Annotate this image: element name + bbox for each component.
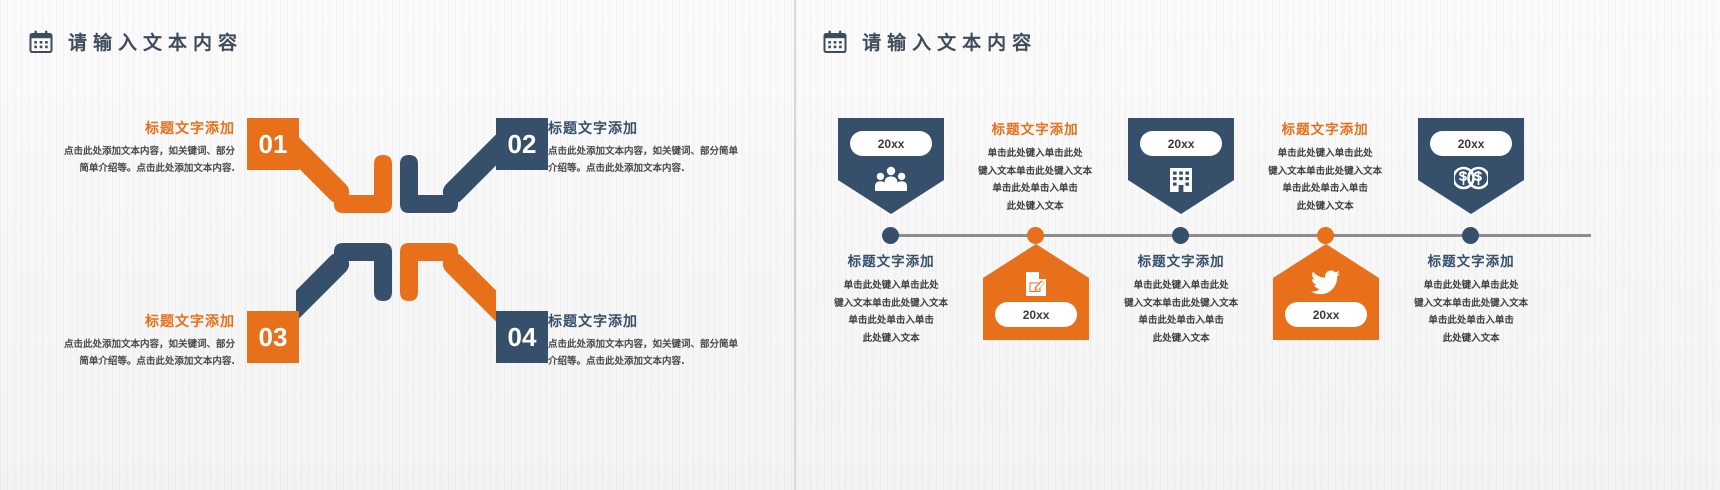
timeline-badge-2[interactable]: 20xx	[983, 244, 1089, 340]
timeline-line-3-4: 此处键入文本	[1093, 330, 1269, 348]
text-block-03: 标题文字添加 点击此处添加文本内容，如关键词、部分 简单介绍等。点击此处添加文本…	[20, 311, 235, 370]
building-icon	[1128, 166, 1234, 194]
calendar-icon	[822, 29, 848, 55]
shield-shape-4: 20xx	[1273, 244, 1379, 340]
page-title: 请输入文本内容	[862, 28, 1037, 55]
timeline-title-5: 标题文字添加	[1383, 250, 1559, 270]
timeline-title-3: 标题文字添加	[1093, 250, 1269, 270]
timeline-dot-4	[1317, 227, 1334, 244]
timeline-line-1-1: 单击此处键入单击此处	[803, 277, 979, 295]
page-title: 请输入文本内容	[68, 28, 243, 55]
timeline-line-1-3: 单击此处单击入单击	[803, 312, 979, 330]
timeline-title-4: 标题文字添加	[1237, 118, 1413, 138]
timeline-connector-line	[891, 234, 1591, 237]
shield-shape-2: 20xx	[983, 244, 1089, 340]
timeline-line-5-4: 此处键入文本	[1383, 330, 1559, 348]
shield-shape-5: 20xx	[1418, 118, 1524, 214]
block-title-04: 标题文字添加	[548, 311, 776, 331]
text-block-04: 标题文字添加 点击此处添加文本内容，如关键词、部分简单 介绍等。点击此处添加文本…	[548, 311, 776, 370]
timeline-line-4-4: 此处键入文本	[1237, 198, 1413, 216]
timeline-line-1-4: 此处键入文本	[803, 330, 979, 348]
timeline-line-2-2: 键入文本单击此处键入文本	[947, 163, 1123, 181]
timeline-line-3-2: 键入文本单击此处键入文本	[1093, 295, 1269, 313]
timeline-line-1-2: 键入文本单击此处键入文本	[803, 295, 979, 313]
timeline-title-1: 标题文字添加	[803, 250, 979, 270]
number-badge-02: 02	[496, 118, 548, 170]
calendar-icon	[28, 29, 54, 55]
timeline-line-5-1: 单击此处键入单击此处	[1383, 277, 1559, 295]
timeline-line-3-3: 单击此处单击入单击	[1093, 312, 1269, 330]
timeline-line-4-1: 单击此处键入单击此处	[1237, 145, 1413, 163]
timeline-text-1: 标题文字添加 单击此处键入单击此处 键入文本单击此处键入文本 单击此处单击入单击…	[803, 250, 979, 347]
timeline-dot-5	[1462, 227, 1479, 244]
timeline-line-4-2: 键入文本单击此处键入文本	[1237, 163, 1413, 181]
timeline-line-2-3: 单击此处单击入单击	[947, 180, 1123, 198]
block-body-01-line1: 点击此处添加文本内容，如关键词、部分	[20, 144, 235, 161]
timeline-dot-2	[1027, 227, 1044, 244]
number-badge-01: 01	[247, 118, 299, 170]
block-body-04-line2: 介绍等。点击此处添加文本内容.	[548, 354, 776, 371]
year-pill-4: 20xx	[1285, 302, 1367, 327]
twitter-bird-icon	[1273, 270, 1379, 296]
money-dollar-icon	[1418, 166, 1524, 190]
block-body-03-line1: 点击此处添加文本内容，如关键词、部分	[20, 337, 235, 354]
right-slide-header: 请输入文本内容	[822, 28, 1037, 55]
block-title-02: 标题文字添加	[548, 118, 776, 138]
timeline-line-2-1: 单击此处键入单击此处	[947, 145, 1123, 163]
shield-shape-3: 20xx	[1128, 118, 1234, 214]
year-pill-2: 20xx	[995, 302, 1077, 327]
number-badge-03: 03	[247, 311, 299, 363]
timeline-badge-4[interactable]: 20xx	[1273, 244, 1379, 340]
number-badge-04: 04	[496, 311, 548, 363]
slide-right: 请输入文本内容 20xx	[796, 0, 1720, 490]
slide-left: 请输入文本内容	[0, 0, 794, 490]
timeline-line-5-2: 键入文本单击此处键入文本	[1383, 295, 1559, 313]
timeline-line-2-4: 此处键入文本	[947, 198, 1123, 216]
block-title-03: 标题文字添加	[20, 311, 235, 331]
timeline-line-5-3: 单击此处单击入单击	[1383, 312, 1559, 330]
timeline-dot-1	[882, 227, 899, 244]
timeline-text-3: 标题文字添加 单击此处键入单击此处 键入文本单击此处键入文本 单击此处单击入单击…	[1093, 250, 1269, 347]
shield-shape-1: 20xx	[838, 118, 944, 214]
block-body-02-line1: 点击此处添加文本内容，如关键词、部分简单	[548, 144, 776, 161]
timeline-title-2: 标题文字添加	[947, 118, 1123, 138]
text-block-01: 标题文字添加 点击此处添加文本内容，如关键词、部分 简单介绍等。点击此处添加文本…	[20, 118, 235, 177]
timeline-text-4: 标题文字添加 单击此处键入单击此处 键入文本单击此处键入文本 单击此处单击入单击…	[1237, 118, 1413, 215]
document-edit-icon	[983, 270, 1089, 298]
timeline-badge-3[interactable]: 20xx	[1128, 118, 1234, 214]
block-body-01-line2: 简单介绍等。点击此处添加文本内容.	[20, 161, 235, 178]
two-slide-canvas: 请输入文本内容	[0, 0, 1720, 490]
people-group-icon	[838, 166, 944, 192]
four-arrows-converging-icon	[296, 112, 496, 344]
year-pill-3: 20xx	[1140, 131, 1222, 156]
timeline-line-4-3: 单击此处单击入单击	[1237, 180, 1413, 198]
year-pill-5: 20xx	[1430, 131, 1512, 156]
block-body-04-line1: 点击此处添加文本内容，如关键词、部分简单	[548, 337, 776, 354]
timeline-text-2: 标题文字添加 单击此处键入单击此处 键入文本单击此处键入文本 单击此处单击入单击…	[947, 118, 1123, 215]
left-slide-header: 请输入文本内容	[28, 28, 243, 55]
timeline-text-5: 标题文字添加 单击此处键入单击此处 键入文本单击此处键入文本 单击此处单击入单击…	[1383, 250, 1559, 347]
timeline-line-3-1: 单击此处键入单击此处	[1093, 277, 1269, 295]
block-title-01: 标题文字添加	[20, 118, 235, 138]
timeline-dot-3	[1172, 227, 1189, 244]
timeline-badge-1[interactable]: 20xx	[838, 118, 944, 214]
timeline-badge-5[interactable]: 20xx	[1418, 118, 1524, 214]
block-body-03-line2: 简单介绍等。点击此处添加文本内容.	[20, 354, 235, 371]
text-block-02: 标题文字添加 点击此处添加文本内容，如关键词、部分简单 介绍等。点击此处添加文本…	[548, 118, 776, 177]
year-pill-1: 20xx	[850, 131, 932, 156]
block-body-02-line2: 介绍等。点击此处添加文本内容.	[548, 161, 776, 178]
